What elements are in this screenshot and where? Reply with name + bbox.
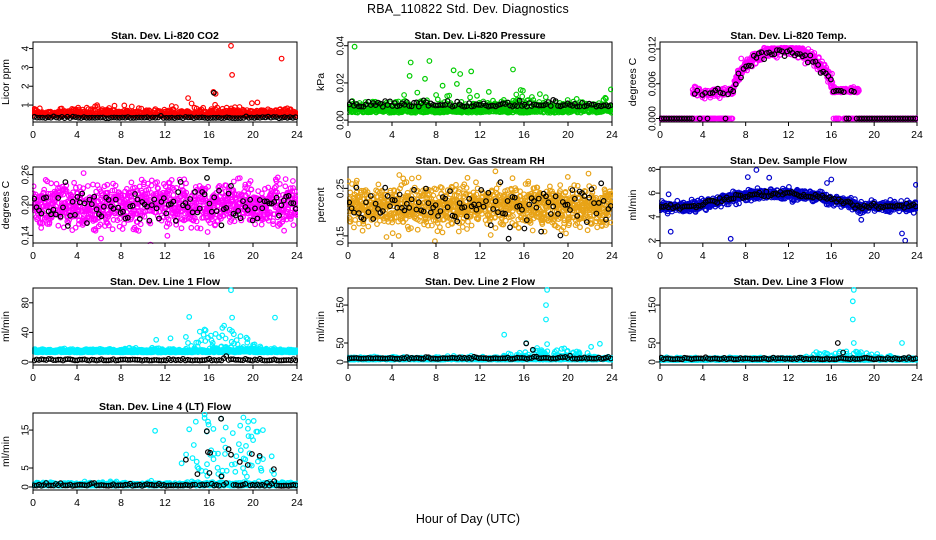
y-tick-label-0: 3: [21, 64, 32, 70]
y-tick-label-4: 0.15: [336, 226, 347, 246]
x-tick-label-3: 0: [30, 250, 36, 262]
figure-x-axis-label: Hour of Day (UTC): [0, 512, 936, 526]
chart-plot-area-9: 048121620240515ml/min: [0, 0, 936, 540]
y-tick-label-3: 0.26: [21, 164, 32, 184]
scatter-layer-0: [31, 44, 299, 121]
y-tick-label-0: 1: [21, 102, 32, 108]
x-tick-label-7: 4: [389, 372, 395, 384]
chart-panel-8: Stan. Dev. Line 3 Flow04812162024050150m…: [0, 0, 936, 540]
plot-box-6: [33, 288, 297, 365]
chart-plot-area-3: 048121620240.140.200.26degrees C: [0, 0, 936, 540]
x-tick-label-9: 20: [247, 497, 259, 509]
y-tick-label-1: 0.00: [336, 110, 347, 130]
scatter-layer-7: [346, 288, 614, 362]
y-axis-label-6: ml/min: [0, 311, 12, 342]
x-tick-label-3: 24: [291, 250, 303, 262]
y-axis-label-9: ml/min: [0, 436, 12, 467]
x-tick-label-5: 4: [700, 250, 706, 262]
x-tick-label-5: 8: [743, 250, 749, 262]
chart-panel-0: Stan. Dev. Li-820 CO2048121620241234Lico…: [0, 0, 936, 540]
x-tick-label-4: 20: [562, 250, 574, 262]
plot-box-3: [33, 167, 297, 243]
scatter-layer-5: [658, 168, 919, 243]
x-tick-label-1: 20: [562, 129, 574, 141]
y-tick-label-5: 2: [648, 237, 659, 243]
series-1-panel-5: [659, 189, 918, 211]
x-tick-label-1: 8: [433, 129, 439, 141]
x-tick-label-0: 16: [203, 129, 215, 141]
chart-plot-area-2: 048121620240.0000.0060.012degrees C: [0, 0, 936, 540]
chart-title-9: Stan. Dev. Line 4 (LT) Flow: [3, 401, 327, 413]
x-tick-label-4: 4: [389, 250, 395, 262]
x-tick-label-2: 12: [783, 129, 795, 141]
plot-box-4: [348, 167, 612, 243]
chart-plot-area-0: 048121620241234Licor ppm: [0, 0, 936, 540]
chart-panel-1: Stan. Dev. Li-820 Pressure048121620240.0…: [0, 0, 936, 540]
x-tick-label-2: 24: [911, 129, 923, 141]
x-tick-label-1: 0: [345, 129, 351, 141]
y-axis-label-3: degrees C: [0, 180, 12, 229]
series-0-panel-0: [31, 44, 299, 119]
x-tick-label-5: 24: [911, 250, 923, 262]
x-tick-label-2: 0: [657, 129, 663, 141]
chart-panel-5: Stan. Dev. Sample Flow048121620242468ml/…: [0, 0, 936, 540]
scatter-layer-9: [31, 412, 299, 488]
x-tick-label-9: 4: [74, 497, 80, 509]
chart-title-7: Stan. Dev. Line 2 Flow: [318, 276, 642, 288]
x-tick-label-1: 4: [389, 129, 395, 141]
chart-panel-9: Stan. Dev. Line 4 (LT) Flow0481216202405…: [0, 0, 936, 540]
plot-box-7: [348, 288, 612, 365]
x-tick-label-3: 20: [247, 250, 259, 262]
chart-title-8: Stan. Dev. Line 3 Flow: [630, 276, 936, 288]
chart-title-1: Stan. Dev. Li-820 Pressure: [318, 30, 642, 42]
series-0-panel-2: [658, 46, 919, 121]
x-tick-label-8: 12: [783, 372, 795, 384]
chart-title-3: Stan. Dev. Amb. Box Temp.: [3, 155, 327, 167]
x-tick-label-0: 4: [74, 129, 80, 141]
series-0-panel-3: [31, 171, 299, 247]
y-tick-label-0: 2: [21, 83, 32, 89]
x-tick-label-9: 24: [291, 497, 303, 509]
x-tick-label-7: 8: [433, 372, 439, 384]
figure-canvas: RBA_110822 Std. Dev. Diagnostics Stan. D…: [0, 0, 936, 540]
series-0-panel-1: [346, 44, 614, 115]
scatter-layer-6: [31, 288, 299, 363]
x-tick-label-0: 0: [30, 129, 36, 141]
x-tick-label-6: 20: [247, 372, 259, 384]
x-tick-label-2: 20: [868, 129, 880, 141]
x-tick-label-0: 20: [247, 129, 259, 141]
chart-plot-area-6: 0481216202404080ml/min: [0, 0, 936, 540]
y-tick-label-6: 40: [21, 326, 32, 338]
y-tick-label-5: 6: [648, 190, 659, 196]
y-tick-label-8: 0: [648, 359, 659, 365]
y-tick-label-5: 8: [648, 166, 659, 172]
series-1-panel-1: [347, 98, 613, 109]
y-tick-label-7: 0: [336, 359, 347, 365]
x-tick-label-6: 0: [30, 372, 36, 384]
x-tick-label-8: 16: [825, 372, 837, 384]
chart-panel-4: Stan. Dev. Gas Stream RH048121620240.150…: [0, 0, 936, 540]
y-tick-label-7: 150: [336, 296, 347, 313]
y-tick-label-9: 15: [21, 424, 32, 436]
x-tick-label-4: 12: [474, 250, 486, 262]
x-tick-label-4: 24: [606, 250, 618, 262]
x-tick-label-8: 8: [743, 372, 749, 384]
x-tick-label-3: 16: [203, 250, 215, 262]
x-tick-label-4: 0: [345, 250, 351, 262]
scatter-layer-8: [658, 288, 919, 363]
x-tick-label-5: 20: [868, 250, 880, 262]
chart-panel-2: Stan. Dev. Li-820 Temp.048121620240.0000…: [0, 0, 936, 540]
chart-panel-7: Stan. Dev. Line 2 Flow04812162024050150m…: [0, 0, 936, 540]
series-1-panel-8: [659, 341, 918, 362]
y-tick-label-0: 4: [21, 45, 32, 51]
x-tick-label-7: 12: [474, 372, 486, 384]
x-tick-label-7: 0: [345, 372, 351, 384]
x-tick-label-7: 24: [606, 372, 618, 384]
series-1-panel-2: [659, 48, 918, 121]
x-tick-label-0: 8: [118, 129, 124, 141]
x-tick-label-9: 0: [30, 497, 36, 509]
scatter-layer-4: [346, 169, 614, 244]
y-tick-label-6: 0: [21, 359, 32, 365]
y-tick-label-8: 50: [648, 337, 659, 349]
plot-box-9: [33, 413, 297, 490]
y-tick-label-2: 0.006: [648, 71, 659, 96]
x-tick-label-3: 8: [118, 250, 124, 262]
y-axis-label-1: kPa: [315, 73, 327, 91]
x-tick-label-6: 8: [118, 372, 124, 384]
x-tick-label-7: 20: [562, 372, 574, 384]
x-tick-label-4: 8: [433, 250, 439, 262]
plot-box-2: [660, 42, 917, 122]
y-tick-label-3: 0.14: [21, 225, 32, 245]
scatter-layer-3: [31, 171, 299, 247]
x-tick-label-0: 24: [291, 129, 303, 141]
series-0-panel-9: [31, 412, 299, 488]
chart-panel-3: Stan. Dev. Amb. Box Temp.048121620240.14…: [0, 0, 936, 540]
x-tick-label-8: 4: [700, 372, 706, 384]
plot-box-5: [660, 167, 917, 243]
x-tick-label-1: 24: [606, 129, 618, 141]
chart-plot-area-5: 048121620242468ml/min: [0, 0, 936, 540]
series-1-panel-6: [32, 354, 298, 363]
series-1-panel-4: [347, 180, 613, 241]
scatter-layer-1: [346, 44, 614, 115]
series-0-panel-7: [346, 288, 614, 362]
chart-title-4: Stan. Dev. Gas Stream RH: [318, 155, 642, 167]
y-tick-label-6: 80: [21, 297, 32, 309]
series-0-panel-6: [31, 288, 299, 355]
series-0-panel-5: [658, 168, 919, 243]
y-tick-label-3: 0.20: [21, 195, 32, 215]
figure-title: RBA_110822 Std. Dev. Diagnostics: [0, 2, 936, 16]
x-tick-label-1: 16: [518, 129, 530, 141]
y-tick-label-9: 0: [21, 484, 32, 490]
y-tick-label-7: 50: [336, 337, 347, 349]
y-tick-label-5: 4: [648, 214, 659, 220]
chart-plot-area-8: 04812162024050150ml/min: [0, 0, 936, 540]
y-axis-label-2: degrees C: [627, 57, 639, 106]
y-axis-label-7: ml/min: [315, 311, 327, 342]
series-1-panel-0: [32, 91, 298, 121]
x-tick-label-7: 16: [518, 372, 530, 384]
series-1-panel-3: [32, 176, 298, 229]
x-tick-label-1: 12: [474, 129, 486, 141]
series-0-panel-4: [346, 169, 614, 244]
x-tick-label-3: 12: [159, 250, 171, 262]
series-1-panel-7: [347, 341, 613, 361]
x-tick-label-8: 0: [657, 372, 663, 384]
chart-title-0: Stan. Dev. Li-820 CO2: [3, 30, 327, 42]
y-tick-label-9: 5: [21, 465, 32, 471]
x-tick-label-9: 8: [118, 497, 124, 509]
y-axis-label-4: percent: [315, 187, 327, 222]
y-tick-label-4: 0.25: [336, 178, 347, 198]
y-axis-label-8: ml/min: [627, 311, 639, 342]
x-tick-label-9: 12: [159, 497, 171, 509]
x-tick-label-3: 4: [74, 250, 80, 262]
chart-plot-area-4: 048121620240.150.25percent: [0, 0, 936, 540]
plot-box-1: [348, 42, 612, 122]
chart-plot-area-1: 048121620240.000.020.04kPa: [0, 0, 936, 540]
x-tick-label-9: 16: [203, 497, 215, 509]
x-tick-label-2: 16: [825, 129, 837, 141]
x-tick-label-6: 12: [159, 372, 171, 384]
plot-box-0: [33, 42, 297, 122]
y-tick-label-2: 0.000: [648, 106, 659, 131]
chart-panel-6: Stan. Dev. Line 1 Flow0481216202404080ml…: [0, 0, 936, 540]
chart-title-2: Stan. Dev. Li-820 Temp.: [630, 30, 936, 42]
x-tick-label-8: 24: [911, 372, 923, 384]
chart-title-5: Stan. Dev. Sample Flow: [630, 155, 936, 167]
scatter-layer-2: [658, 46, 919, 121]
y-axis-label-0: Licor ppm: [0, 59, 12, 105]
x-tick-label-4: 16: [518, 250, 530, 262]
x-tick-label-6: 4: [74, 372, 80, 384]
chart-plot-area-7: 04812162024050150ml/min: [0, 0, 936, 540]
series-1-panel-9: [32, 416, 298, 488]
series-0-panel-8: [658, 288, 919, 363]
y-tick-label-1: 0.02: [336, 73, 347, 93]
x-tick-label-5: 12: [783, 250, 795, 262]
x-tick-label-2: 4: [700, 129, 706, 141]
x-tick-label-0: 12: [159, 129, 171, 141]
y-tick-label-1: 0.04: [336, 36, 347, 56]
y-tick-label-2: 0.012: [648, 36, 659, 61]
x-tick-label-5: 16: [825, 250, 837, 262]
plot-box-8: [660, 288, 917, 365]
chart-title-6: Stan. Dev. Line 1 Flow: [3, 276, 327, 288]
x-tick-label-6: 16: [203, 372, 215, 384]
x-tick-label-6: 24: [291, 372, 303, 384]
y-axis-label-5: ml/min: [627, 189, 639, 220]
x-tick-label-5: 0: [657, 250, 663, 262]
x-tick-label-8: 20: [868, 372, 880, 384]
x-tick-label-2: 8: [743, 129, 749, 141]
y-tick-label-8: 150: [648, 296, 659, 313]
